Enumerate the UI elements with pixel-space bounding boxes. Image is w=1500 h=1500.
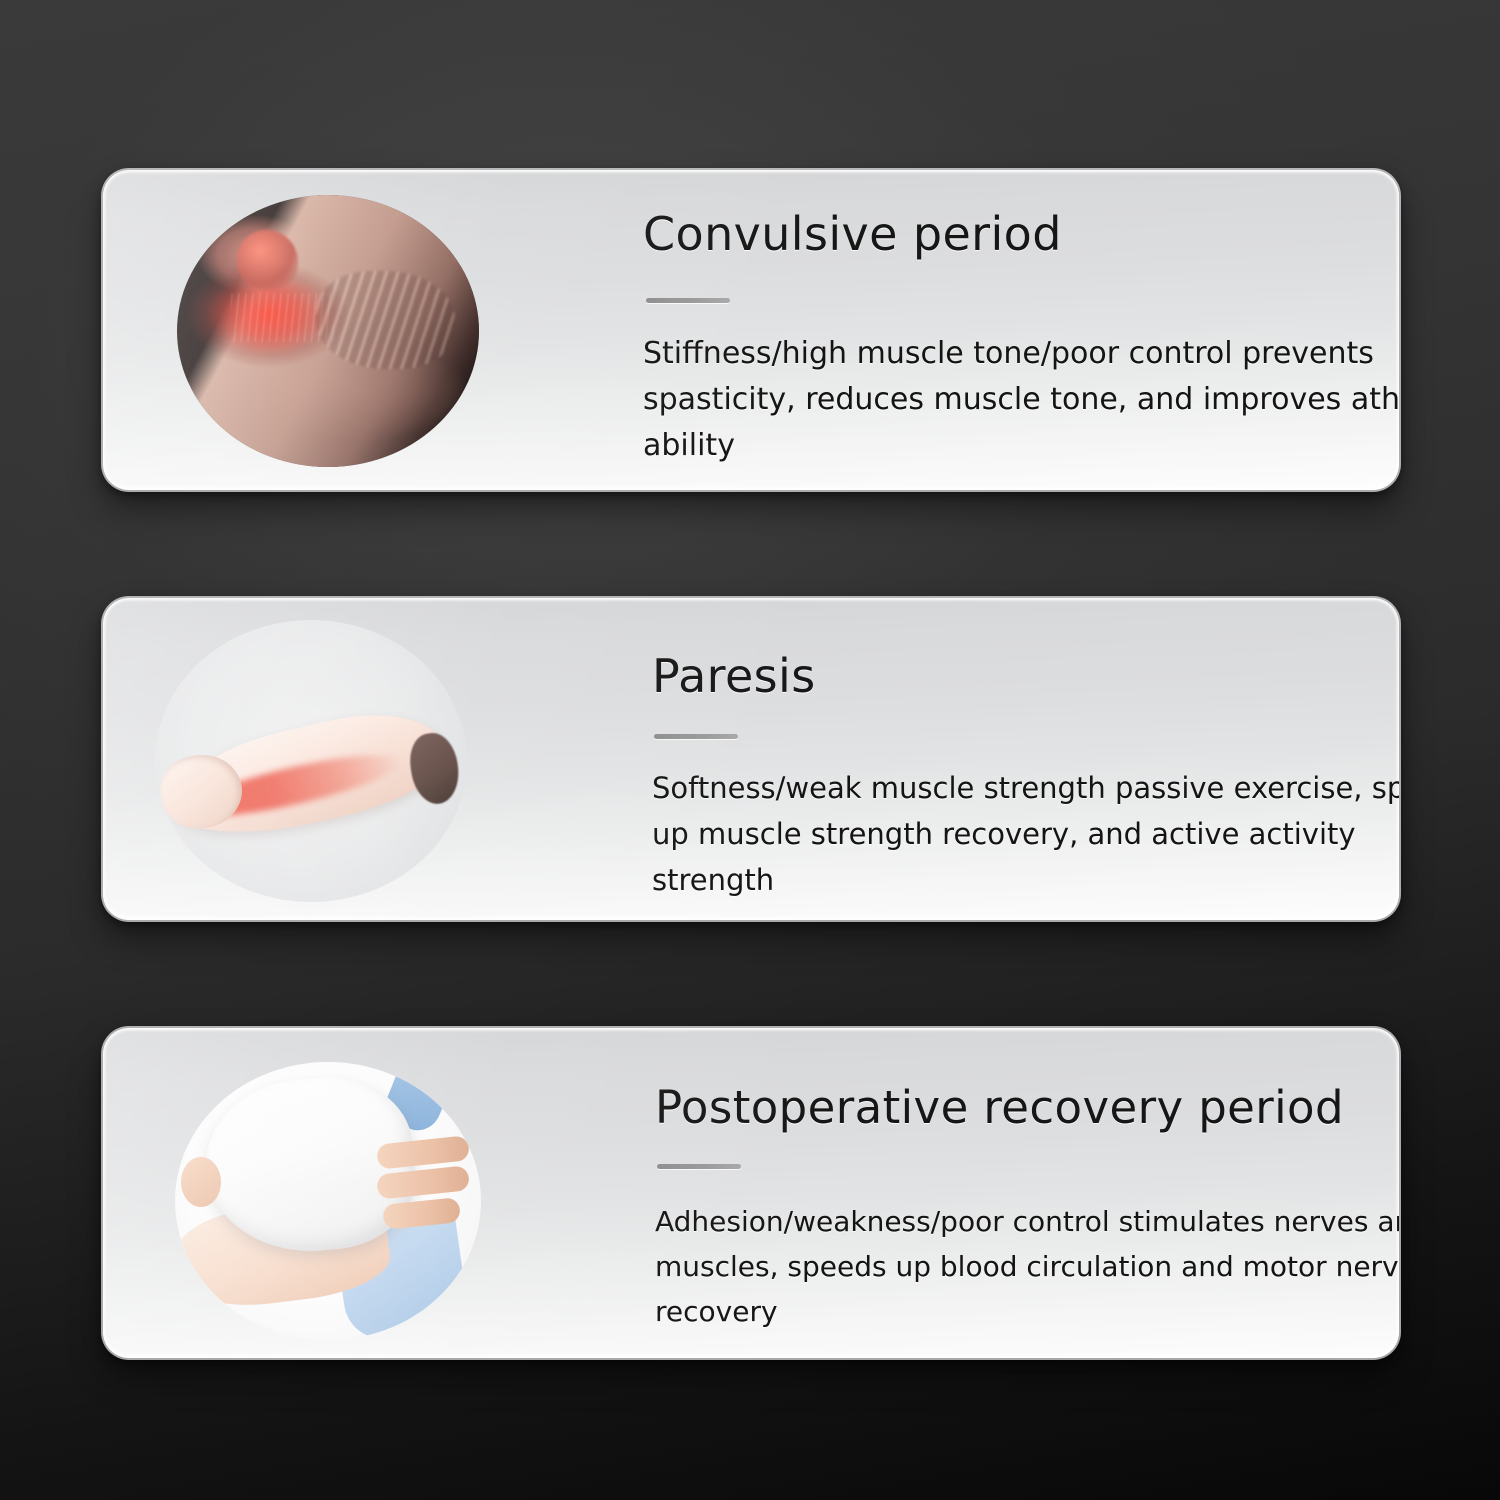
feature-card-image-paresis [155, 620, 467, 902]
title-divider [654, 734, 738, 739]
feature-card-content-paresis: Paresis Softness/weak muscle strength pa… [652, 648, 1399, 903]
photo-thumb-shape [237, 230, 297, 290]
bandaged-hand-therapy-photo [175, 1062, 481, 1340]
photo-knuckles-shape [316, 271, 455, 369]
title-divider [646, 298, 730, 303]
feature-card-image-convulsive-period [177, 195, 479, 467]
feature-card-content-convulsive-period: Convulsive period Stiffness/high muscle … [643, 206, 1399, 469]
feature-card-description: Adhesion/weakness/poor control stimulate… [655, 1199, 1399, 1334]
forearm-nerve-photo [155, 620, 467, 902]
feature-card-title: Paresis [652, 648, 1399, 704]
product-feature-panel: Convulsive period Stiffness/high muscle … [0, 0, 1500, 1500]
feature-card-description: Stiffness/high muscle tone/poor control … [643, 331, 1399, 469]
feature-card-paresis[interactable]: Paresis Softness/weak muscle strength pa… [103, 598, 1399, 920]
feature-card-postoperative-recovery-period[interactable]: Postoperative recovery period Adhesion/w… [103, 1028, 1399, 1358]
feature-card-image-postoperative-recovery-period [175, 1062, 481, 1340]
feature-card-convulsive-period[interactable]: Convulsive period Stiffness/high muscle … [103, 170, 1399, 490]
feature-card-title: Postoperative recovery period [655, 1080, 1399, 1136]
feature-card-description: Softness/weak muscle strength passive ex… [652, 765, 1399, 903]
feature-card-title: Convulsive period [643, 206, 1399, 262]
photo-elbow-shape [406, 730, 463, 807]
photo-thumb-shape [181, 1157, 221, 1207]
title-divider [657, 1164, 741, 1169]
feature-card-content-postoperative-recovery-period: Postoperative recovery period Adhesion/w… [655, 1080, 1399, 1334]
hands-wrist-pain-photo [177, 195, 479, 467]
